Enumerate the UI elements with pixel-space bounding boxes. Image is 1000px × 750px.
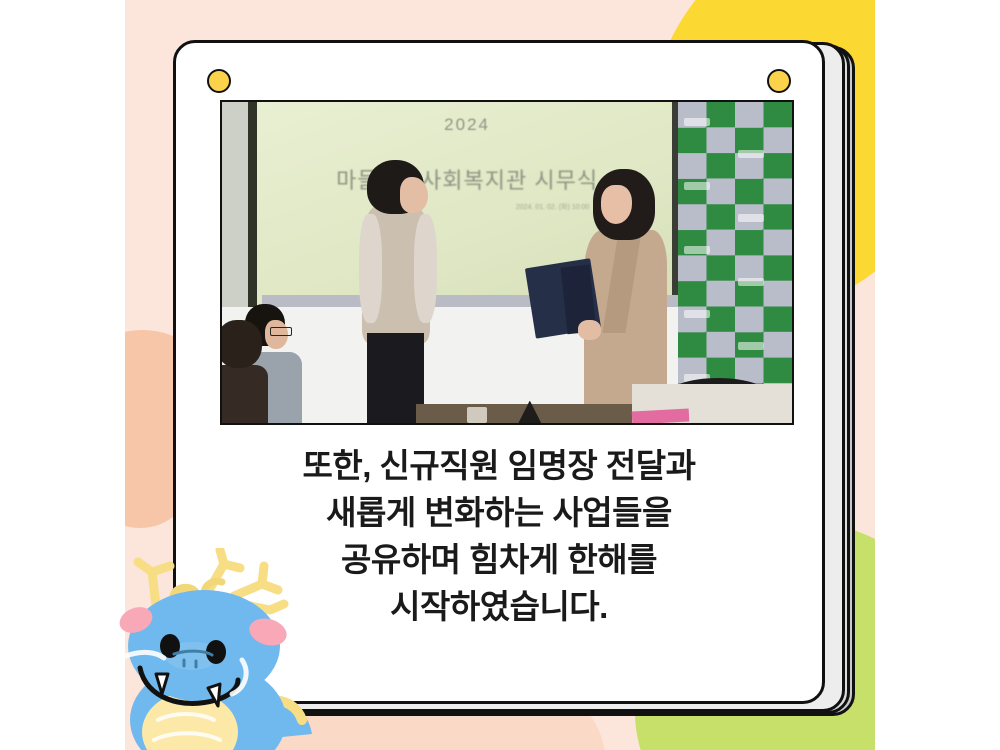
attendee-glasses-icon xyxy=(270,327,292,336)
blue-dragon-mascot xyxy=(112,548,322,750)
photo-frame: 2024 마들종합사회복지관 시무식 2024. 01. 02. (화) 10:… xyxy=(220,100,794,425)
presenter-hand xyxy=(578,320,601,339)
table-pink-item xyxy=(632,409,690,423)
new-employee-face xyxy=(400,177,429,212)
banner-logo-group xyxy=(678,102,792,410)
punch-hole-left-icon xyxy=(207,69,231,93)
new-employee-sleeve-left xyxy=(359,214,382,323)
attendee-front-body xyxy=(222,365,268,423)
punch-hole-right-icon xyxy=(767,69,791,93)
caption-line-2: 새롭게 변화하는 사업들을 xyxy=(176,490,822,537)
desk-cup xyxy=(467,407,487,423)
screen-year-text: 2024 xyxy=(256,115,678,135)
new-employee-sleeve-right xyxy=(414,214,438,323)
poster-canvas: 2024 마들종합사회복지관 시무식 2024. 01. 02. (화) 10:… xyxy=(0,0,1000,750)
step-and-repeat-banner xyxy=(678,102,792,410)
attendee-front-head xyxy=(222,320,262,368)
award-ceremony-photo: 2024 마들종합사회복지관 시무식 2024. 01. 02. (화) 10:… xyxy=(222,102,792,423)
caption-line-1: 또한, 신규직원 임명장 전달과 xyxy=(176,443,822,490)
